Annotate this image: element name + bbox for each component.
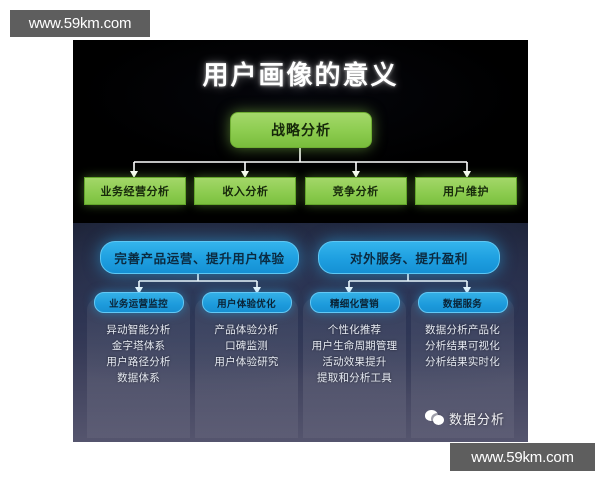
wechat-badge: 数据分析 — [425, 406, 505, 430]
list-item: 分析结果可视化 — [411, 338, 514, 354]
list-item: 异动智能分析 — [87, 322, 190, 338]
column-business-operation-monitoring: 业务运营监控 异动智能分析 金字塔体系 用户路径分析 数据体系 — [87, 298, 190, 438]
list-item: 数据分析产品化 — [411, 322, 514, 338]
list-item: 金字塔体系 — [87, 338, 190, 354]
column-refined-marketing: 精细化营销 个性化推荐 用户生命周期管理 活动效果提升 提取和分析工具 — [303, 298, 406, 438]
node-business-operation-analysis[interactable]: 业务经营分析 — [84, 177, 186, 205]
node-label: 收入分析 — [222, 183, 268, 199]
list-item: 口碑监测 — [195, 338, 298, 354]
column-item-list: 异动智能分析 金字塔体系 用户路径分析 数据体系 — [87, 322, 190, 386]
group-header-label: 对外服务、提升盈利 — [350, 248, 468, 267]
page-title: 用户画像的意义 — [73, 55, 528, 92]
list-item: 个性化推荐 — [303, 322, 406, 338]
list-item: 提取和分析工具 — [303, 370, 406, 386]
watermark-bottom: www.59km.com — [450, 443, 595, 471]
node-strategy-analysis-label: 战略分析 — [271, 120, 331, 140]
list-item: 活动效果提升 — [303, 354, 406, 370]
node-user-maintenance[interactable]: 用户维护 — [415, 177, 517, 205]
column-item-list: 产品体验分析 口碑监测 用户体验研究 — [195, 322, 298, 370]
column-item-list: 数据分析产品化 分析结果可视化 分析结果实时化 — [411, 322, 514, 370]
node-label: 竞争分析 — [333, 183, 379, 199]
column-user-experience-optimization: 用户体验优化 产品体验分析 口碑监测 用户体验研究 — [195, 298, 298, 438]
wechat-icon — [425, 410, 444, 426]
column-pill[interactable]: 业务运营监控 — [94, 292, 184, 313]
list-item: 用户体验研究 — [195, 354, 298, 370]
wechat-bubble-small — [433, 415, 444, 425]
group-header-label: 完善产品运营、提升用户体验 — [114, 248, 284, 267]
node-competition-analysis[interactable]: 竞争分析 — [305, 177, 407, 205]
watermark-top-text: www.59km.com — [29, 15, 132, 32]
watermark-top: www.59km.com — [10, 10, 150, 37]
column-pill[interactable]: 精细化营销 — [310, 292, 400, 313]
watermark-bottom-text: www.59km.com — [471, 449, 574, 466]
node-label: 用户维护 — [443, 183, 489, 199]
column-item-list: 个性化推荐 用户生命周期管理 活动效果提升 提取和分析工具 — [303, 322, 406, 386]
group-header-external-service[interactable]: 对外服务、提升盈利 — [318, 241, 500, 274]
group-header-product-operation[interactable]: 完善产品运营、提升用户体验 — [100, 241, 299, 274]
column-pill[interactable]: 用户体验优化 — [202, 292, 292, 313]
wechat-badge-label: 数据分析 — [449, 409, 505, 428]
list-item: 用户生命周期管理 — [303, 338, 406, 354]
node-strategy-analysis[interactable]: 战略分析 — [230, 112, 372, 148]
list-item: 产品体验分析 — [195, 322, 298, 338]
node-revenue-analysis[interactable]: 收入分析 — [194, 177, 296, 205]
list-item: 分析结果实时化 — [411, 354, 514, 370]
level2-row: 业务经营分析 收入分析 竞争分析 用户维护 — [84, 177, 517, 205]
node-label: 业务经营分析 — [101, 183, 170, 199]
list-item: 用户路径分析 — [87, 354, 190, 370]
slide-panel: 用户画像的意义 — [73, 40, 528, 442]
column-pill[interactable]: 数据服务 — [418, 292, 508, 313]
list-item: 数据体系 — [87, 370, 190, 386]
